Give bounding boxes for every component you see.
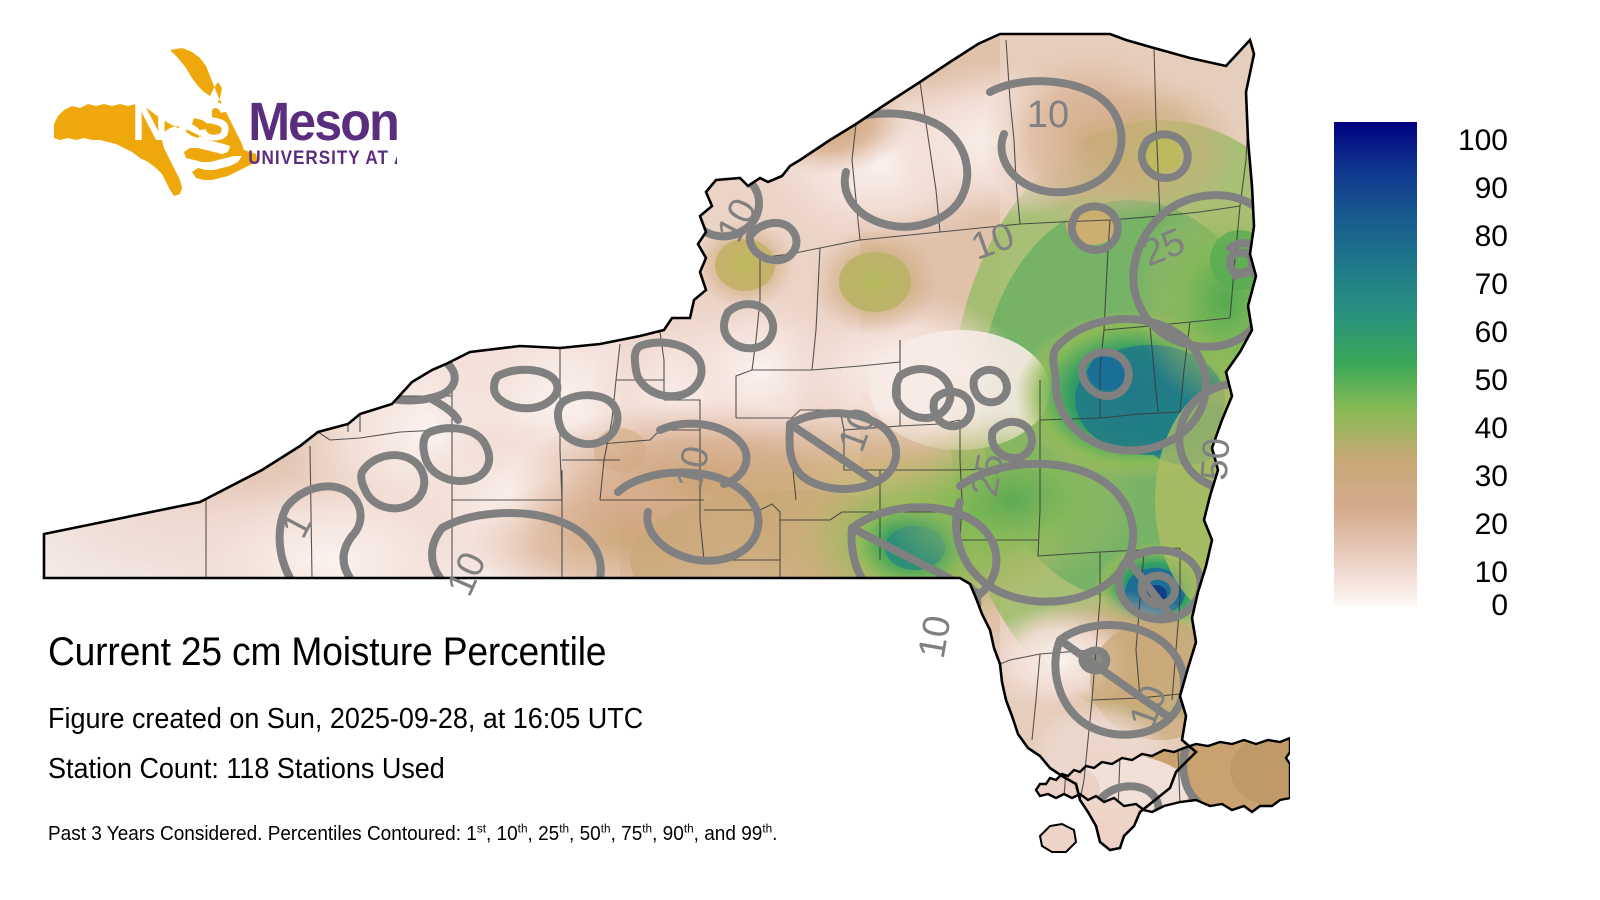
colorbar-tick-60: 60 bbox=[1422, 318, 1508, 348]
colorbar-tick-70: 70 bbox=[1422, 270, 1508, 300]
colorbar-tick-0: 0 bbox=[1422, 591, 1508, 621]
colorbar-tick-100: 100 bbox=[1422, 126, 1508, 156]
svg-text:10: 10 bbox=[668, 442, 718, 492]
colorbar-tick-10: 10 bbox=[1422, 558, 1508, 588]
page-title: Current 25 cm Moisture Percentile bbox=[48, 630, 606, 674]
percentile-colorbar: 100 90 80 70 60 50 40 30 20 10 0 bbox=[1310, 110, 1510, 630]
colorbar-tick-80: 80 bbox=[1422, 222, 1508, 252]
colorbar-tick-40: 40 bbox=[1422, 414, 1508, 444]
nys-mesonet-logo: NYS Mesonet UNIVERSITY AT ALBANY bbox=[52, 48, 397, 198]
svg-text:10: 10 bbox=[1027, 94, 1069, 136]
colorbar-tick-30: 30 bbox=[1422, 462, 1508, 492]
logo-subtitle-text: UNIVERSITY AT ALBANY bbox=[248, 147, 397, 168]
logo-mesonet-text: Mesonet bbox=[248, 92, 397, 152]
percentile-footnote: Past 3 Years Considered. Percentiles Con… bbox=[48, 822, 777, 846]
svg-text:NYS: NYS bbox=[132, 91, 229, 151]
station-count-text: Station Count: 118 Stations Used bbox=[48, 752, 445, 786]
svg-text:50: 50 bbox=[1194, 437, 1239, 482]
colorbar-tick-50: 50 bbox=[1422, 366, 1508, 396]
svg-text:25: 25 bbox=[964, 450, 1013, 499]
svg-text:10: 10 bbox=[911, 612, 960, 661]
logo-nys-text: NYS bbox=[132, 91, 229, 151]
small-islands bbox=[1040, 824, 1076, 852]
colorbar-tick-20: 20 bbox=[1422, 510, 1508, 540]
svg-text:UNIVERSITY AT ALBANY: UNIVERSITY AT ALBANY bbox=[248, 147, 397, 168]
svg-text:Mesonet: Mesonet bbox=[248, 92, 397, 152]
figure-created-text: Figure created on Sun, 2025-09-28, at 16… bbox=[48, 702, 643, 736]
colorbar-gradient bbox=[1334, 122, 1417, 606]
colorbar-tick-90: 90 bbox=[1422, 174, 1508, 204]
